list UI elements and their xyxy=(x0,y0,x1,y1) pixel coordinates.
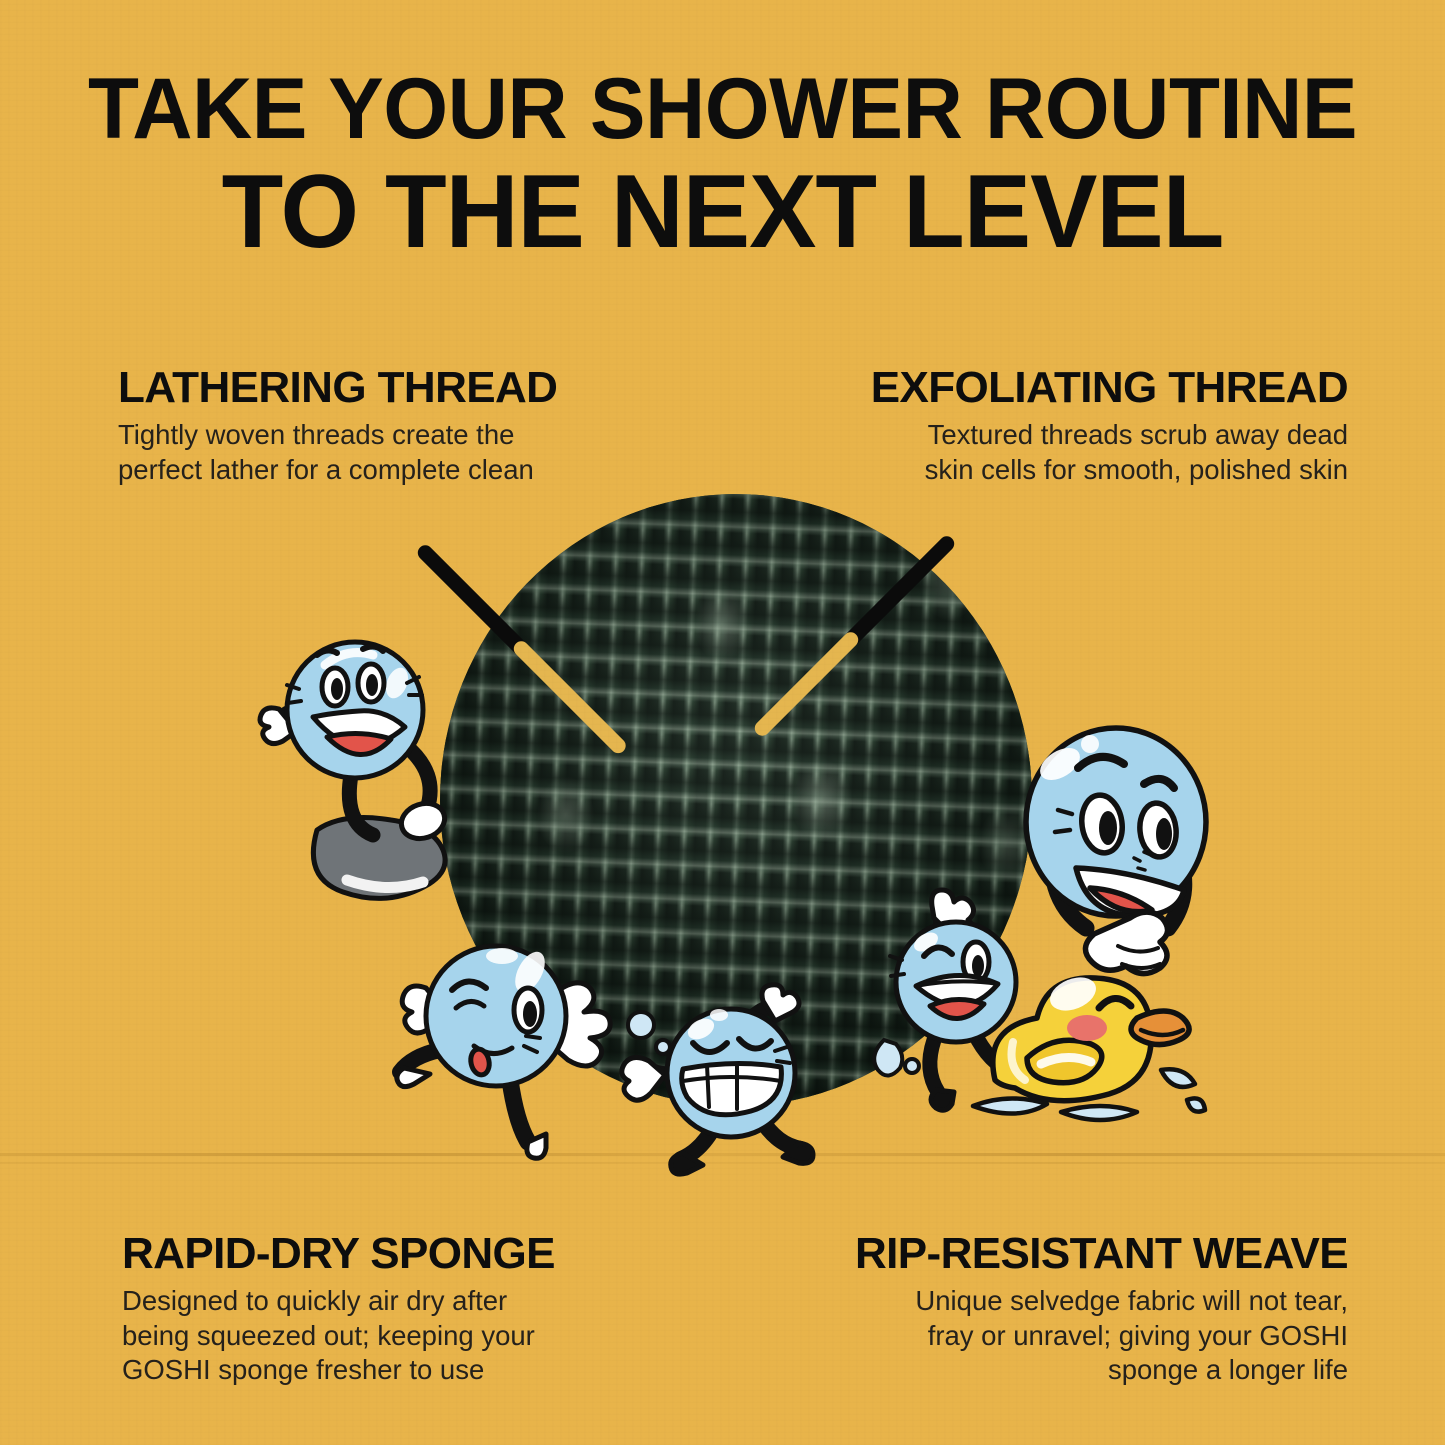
mascot-bubble-grinning xyxy=(615,985,850,1180)
feature-title-exfoliating-thread: EXFOLIATING THREAD xyxy=(800,366,1348,410)
headline-line-1: TAKE YOUR SHOWER ROUTINE xyxy=(22,66,1424,152)
feature-lathering-thread: LATHERING THREAD Tightly woven threads c… xyxy=(118,366,638,487)
feature-title-rip-resistant-weave: RIP-RESISTANT WEAVE xyxy=(790,1232,1348,1276)
infographic-poster: TAKE YOUR SHOWER ROUTINE TO THE NEXT LEV… xyxy=(0,0,1445,1445)
feature-body-rapid-dry-sponge: Designed to quickly air dry after being … xyxy=(122,1284,642,1388)
mascot-bubble-winking xyxy=(378,928,633,1163)
feature-title-lathering-thread: LATHERING THREAD xyxy=(118,366,638,410)
headline-line-2: TO THE NEXT LEVEL xyxy=(22,160,1424,264)
feature-body-lathering-thread: Tightly woven threads create the perfect… xyxy=(118,418,638,487)
mascot-rubber-duck xyxy=(955,930,1205,1145)
feature-body-exfoliating-thread: Textured threads scrub away dead skin ce… xyxy=(800,418,1348,487)
feature-rapid-dry-sponge: RAPID-DRY SPONGE Designed to quickly air… xyxy=(122,1232,642,1388)
feature-title-rapid-dry-sponge: RAPID-DRY SPONGE xyxy=(122,1232,642,1276)
feature-rip-resistant-weave: RIP-RESISTANT WEAVE Unique selvedge fabr… xyxy=(790,1232,1348,1388)
feature-body-rip-resistant-weave: Unique selvedge fabric will not tear, fr… xyxy=(790,1284,1348,1388)
mascot-bubble-surfer xyxy=(255,625,470,915)
feature-exfoliating-thread: EXFOLIATING THREAD Textured threads scru… xyxy=(800,366,1348,487)
